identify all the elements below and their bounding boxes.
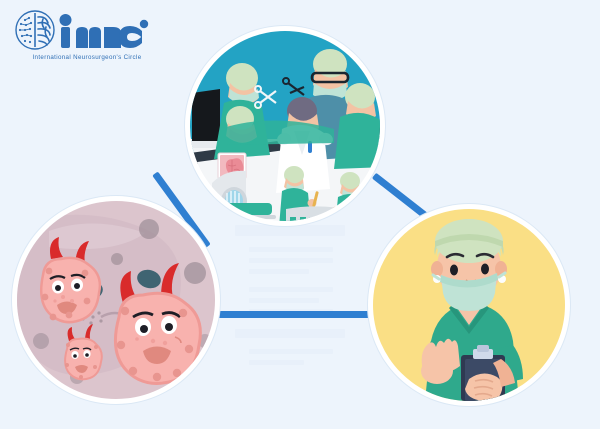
inc-logo-mark (12, 8, 162, 54)
bubble-tumor-cells[interactable] (12, 196, 220, 404)
inc-wordmark (60, 14, 149, 48)
operating-room-illustration (190, 31, 380, 221)
operating-room-scene (190, 31, 380, 221)
tumor-cells-illustration (17, 201, 215, 399)
logo-tagline: International Neurosurgeon's Circle (12, 54, 162, 61)
brand-logo[interactable]: International Neurosurgeon's Circle (12, 8, 162, 68)
connector-left-right (213, 311, 373, 318)
infographic-canvas: International Neurosurgeon's Circle (0, 0, 600, 429)
bubble-surgeon-portrait[interactable] (368, 204, 570, 406)
surgeon-portrait-illustration (373, 209, 565, 401)
surgeon-portrait-scene (373, 209, 565, 401)
brain-icon (16, 11, 54, 49)
tumor-cells-scene (17, 201, 215, 399)
bubble-operating-room[interactable] (185, 26, 385, 226)
